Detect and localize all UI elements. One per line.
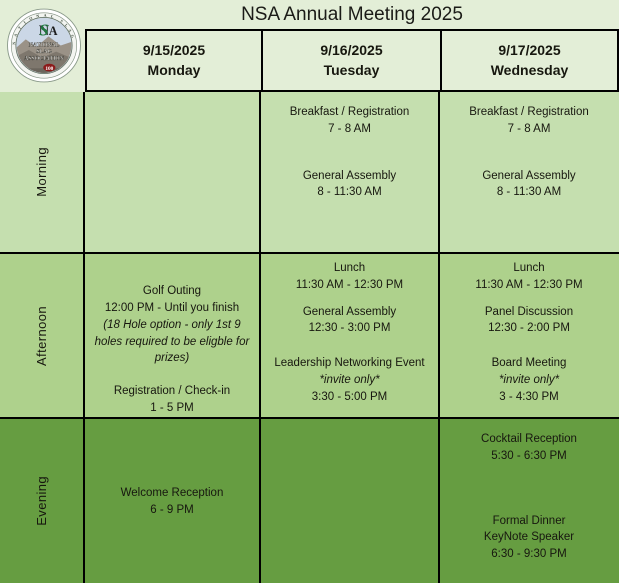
weekday-value: Monday [148, 61, 201, 81]
event-name: Leadership Networking Event [267, 355, 432, 372]
weekday-value: Wednesday [491, 61, 569, 81]
event-breakfast-registration: Breakfast / Registration 7 - 8 AM [446, 104, 612, 138]
cell-evening-wednesday: Cocktail Reception 5:30 - 6:30 PM Formal… [440, 419, 618, 583]
event-name: Breakfast / Registration [267, 104, 432, 121]
event-time: 3:30 - 5:00 PM [267, 389, 432, 406]
event-formal-dinner: Formal Dinner KeyNote Speaker 6:30 - 9:3… [446, 513, 612, 563]
event-general-assembly: General Assembly 8 - 11:30 AM [446, 168, 612, 202]
event-name: Golf Outing [91, 283, 253, 300]
svg-text:A: A [44, 13, 47, 18]
svg-text:A: A [49, 24, 58, 38]
svg-text:SLAG: SLAG [36, 49, 52, 55]
event-name: Welcome Reception [91, 485, 253, 502]
event-golf-outing: Golf Outing 12:00 PM - Until you finish … [91, 283, 253, 367]
event-cocktail-reception: Cocktail Reception 5:30 - 6:30 PM [446, 431, 612, 465]
event-board-meeting: Board Meeting *invite only* 3 - 4:30 PM [446, 355, 612, 405]
cell-morning-wednesday: Breakfast / Registration 7 - 8 AM Genera… [440, 92, 618, 252]
cell-morning-tuesday: Breakfast / Registration 7 - 8 AM Genera… [261, 92, 440, 252]
period-label-text: Afternoon [34, 306, 49, 366]
cell-evening-monday: Welcome Reception 6 - 9 PM [85, 419, 261, 583]
event-time: 6 - 9 PM [91, 502, 253, 519]
event-time: 5:30 - 6:30 PM [446, 448, 612, 465]
svg-text:NATIONAL: NATIONAL [29, 42, 60, 48]
event-general-assembly: General Assembly 8 - 11:30 AM [267, 168, 432, 202]
event-time: 1 - 5 PM [91, 400, 253, 417]
event-note: (18 Hole option - only 1st 9 holes requi… [91, 317, 253, 367]
svg-text:N: N [11, 42, 16, 45]
cell-evening-tuesday [261, 419, 440, 583]
page-title: NSA Annual Meeting 2025 [85, 0, 619, 29]
event-time: 7 - 8 AM [267, 121, 432, 138]
event-name: Breakfast / Registration [446, 104, 612, 121]
date-value: 9/17/2025 [498, 41, 560, 61]
event-time: 8 - 11:30 AM [267, 184, 432, 201]
schedule-body: Morning Breakfast / Registration 7 - 8 A… [0, 92, 619, 583]
event-name: General Assembly [267, 304, 432, 321]
event-time: 11:30 AM - 12:30 PM [267, 277, 432, 294]
cell-afternoon-monday: Golf Outing 12:00 PM - Until you finish … [85, 254, 261, 417]
date-header-wednesday: 9/17/2025 Wednesday [440, 31, 619, 90]
cell-morning-monday [85, 92, 261, 252]
svg-text:S: S [39, 21, 48, 40]
date-value: 9/16/2025 [320, 41, 382, 61]
event-breakfast-registration: Breakfast / Registration 7 - 8 AM [267, 104, 432, 138]
period-label-text: Morning [34, 147, 49, 197]
meeting-schedule-table: NSA Annual Meeting 2025 N A T I [0, 0, 619, 583]
cell-afternoon-wednesday: Lunch 11:30 AM - 12:30 PM Panel Discussi… [440, 254, 618, 417]
event-general-assembly: General Assembly 12:30 - 3:00 PM [267, 304, 432, 338]
event-time: 3 - 4:30 PM [446, 389, 612, 406]
event-note: *invite only* [267, 372, 432, 389]
date-header-row: 9/15/2025 Monday 9/16/2025 Tuesday 9/17/… [85, 31, 619, 92]
event-time: 12:30 - 3:00 PM [267, 320, 432, 337]
event-name: Lunch [267, 260, 432, 277]
row-morning: Morning Breakfast / Registration 7 - 8 A… [0, 92, 619, 254]
cell-afternoon-tuesday: Lunch 11:30 AM - 12:30 PM General Assemb… [261, 254, 440, 417]
period-label-text: Evening [34, 476, 49, 526]
event-registration-checkin: Registration / Check-in 1 - 5 PM [91, 383, 253, 417]
event-time: 8 - 11:30 AM [446, 184, 612, 201]
row-afternoon: Afternoon Golf Outing 12:00 PM - Until y… [0, 254, 619, 419]
period-label-evening: Evening [0, 419, 85, 583]
event-panel-discussion: Panel Discussion 12:30 - 2:00 PM [446, 304, 612, 338]
event-name: Formal Dinner [446, 513, 612, 530]
period-label-morning: Morning [0, 92, 85, 252]
event-lunch: Lunch 11:30 AM - 12:30 PM [267, 260, 432, 294]
weekday-value: Tuesday [324, 61, 380, 81]
event-lunch: Lunch 11:30 AM - 12:30 PM [446, 260, 612, 294]
title-band: NSA Annual Meeting 2025 [0, 0, 619, 31]
event-name: General Assembly [446, 168, 612, 185]
event-time: 7 - 8 AM [446, 121, 612, 138]
nsa-seal-logo-icon: N A T I O N A L S L A G A S S O C I A T [6, 4, 82, 87]
event-name: Registration / Check-in [91, 383, 253, 400]
svg-text:ASSOCIATION: ASSOCIATION [24, 56, 65, 62]
event-name-secondary: KeyNote Speaker [446, 529, 612, 546]
date-value: 9/15/2025 [143, 41, 205, 61]
event-name: Panel Discussion [446, 304, 612, 321]
event-time: 12:00 PM - Until you finish [91, 300, 253, 317]
event-welcome-reception: Welcome Reception 6 - 9 PM [91, 485, 253, 519]
event-time: 12:30 - 2:00 PM [446, 320, 612, 337]
event-name: Cocktail Reception [446, 431, 612, 448]
event-name: Lunch [446, 260, 612, 277]
event-name: General Assembly [267, 168, 432, 185]
event-time: 6:30 - 9:30 PM [446, 546, 612, 563]
svg-text:100: 100 [45, 66, 53, 72]
date-header-monday: 9/15/2025 Monday [85, 31, 261, 90]
period-label-afternoon: Afternoon [0, 254, 85, 417]
date-header-tuesday: 9/16/2025 Tuesday [261, 31, 440, 90]
event-note: *invite only* [446, 372, 612, 389]
row-evening: Evening Welcome Reception 6 - 9 PM Cockt… [0, 419, 619, 583]
event-name: Board Meeting [446, 355, 612, 372]
event-leadership-networking: Leadership Networking Event *invite only… [267, 355, 432, 405]
event-time: 11:30 AM - 12:30 PM [446, 277, 612, 294]
logo-cell: N A T I O N A L S L A G A S S O C I A T [0, 0, 85, 92]
